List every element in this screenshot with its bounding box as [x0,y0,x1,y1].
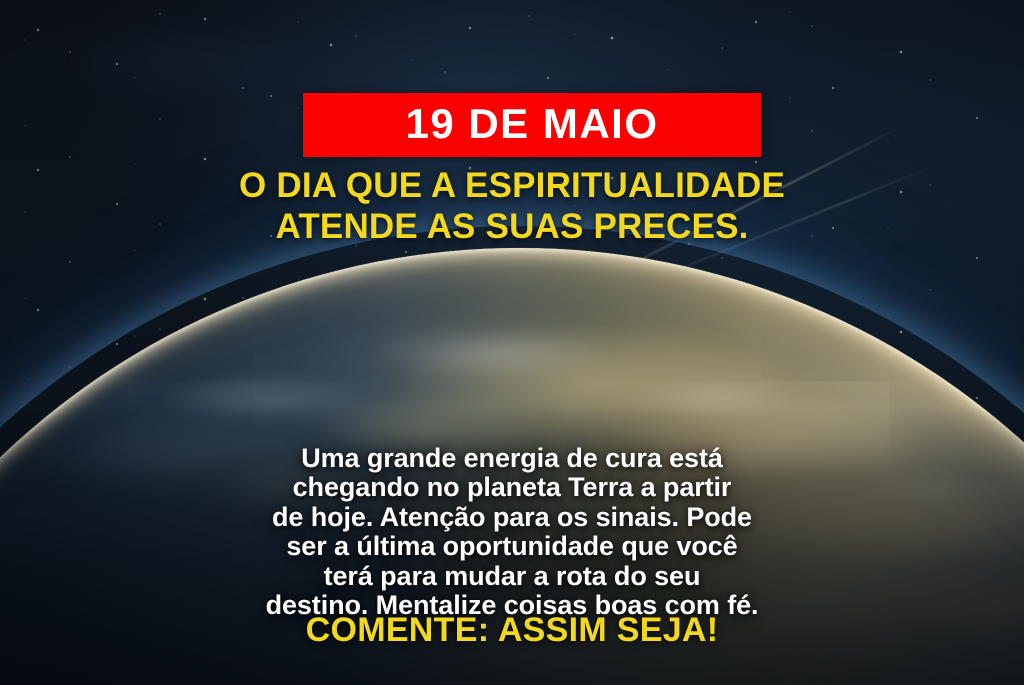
body-line-2: chegando no planeta Terra a partir [40,473,984,502]
date-banner: 19 DE MAIO [303,93,761,157]
date-banner-label: 19 DE MAIO [405,103,658,145]
call-to-action-text: COMENTE: ASSIM SEJA! [40,612,984,649]
headline: O DIA QUE A ESPIRITUALIDADE ATENDE AS SU… [50,166,974,247]
poster-canvas: 19 DE MAIO O DIA QUE A ESPIRITUALIDADE A… [0,0,1024,685]
headline-line-1: O DIA QUE A ESPIRITUALIDADE [50,166,974,207]
body-line-1: Uma grande energia de cura está [40,444,984,473]
headline-line-2: ATENDE AS SUAS PRECES. [50,207,974,248]
body-paragraph: Uma grande energia de cura está chegando… [40,444,984,621]
body-line-4: ser a última oportunidade que você [40,532,984,561]
body-line-5: terá para mudar a rota do seu [40,562,984,591]
content-layer: 19 DE MAIO O DIA QUE A ESPIRITUALIDADE A… [0,0,1024,685]
body-line-3: de hoje. Atenção para os sinais. Pode [40,503,984,532]
